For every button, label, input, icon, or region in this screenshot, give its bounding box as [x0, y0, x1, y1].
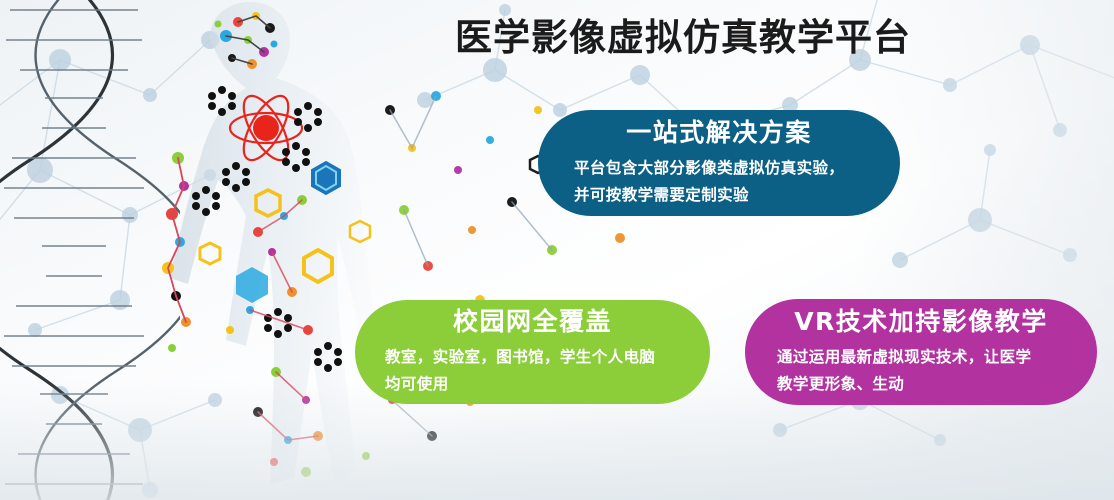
molecule-network-background — [0, 0, 1114, 500]
feature-card-campus-body-line-1: 教室，实验室，图书馆，学生个人电脑 — [385, 344, 698, 371]
feature-card-vr-body-line-2: 教学更形象、生动 — [777, 371, 1085, 398]
feature-card-solution-body-line-1: 平台包含大部分影像类虚拟仿真实验， — [574, 155, 886, 182]
feature-card-campus-title: 校园网全覆盖 — [367, 306, 698, 337]
feature-card-solution-body: 平台包含大部分影像类虚拟仿真实验， 并可按教学需要定制实验 — [552, 155, 886, 209]
right-fade-overlay — [854, 0, 1114, 500]
feature-card-campus[interactable]: 校园网全覆盖 教室，实验室，图书馆，学生个人电脑 均可使用 — [355, 300, 710, 404]
feature-card-vr-title: VR技术加持影像教学 — [757, 306, 1085, 337]
feature-card-vr[interactable]: VR技术加持影像教学 通过运用最新虚拟现实技术，让医学 教学更形象、生动 — [745, 299, 1097, 405]
feature-card-solution-body-line-2: 并可按教学需要定制实验 — [574, 182, 886, 209]
molecular-human-figure — [60, 0, 760, 500]
feature-card-vr-body: 通过运用最新虚拟现实技术，让医学 教学更形象、生动 — [757, 344, 1085, 398]
promo-banner: 医学影像虚拟仿真教学平台 一站式解决方案 平台包含大部分影像类虚拟仿真实验， 并… — [0, 0, 1114, 500]
feature-card-solution[interactable]: 一站式解决方案 平台包含大部分影像类虚拟仿真实验， 并可按教学需要定制实验 — [538, 110, 900, 216]
feature-card-campus-body: 教室，实验室，图书馆，学生个人电脑 均可使用 — [367, 344, 698, 398]
feature-card-campus-body-line-2: 均可使用 — [385, 371, 698, 398]
page-title: 医学影像虚拟仿真教学平台 — [455, 14, 911, 62]
feature-card-solution-title: 一站式解决方案 — [552, 117, 886, 148]
feature-card-vr-body-line-1: 通过运用最新虚拟现实技术，让医学 — [777, 344, 1085, 371]
dna-helix-icon — [0, 0, 180, 500]
